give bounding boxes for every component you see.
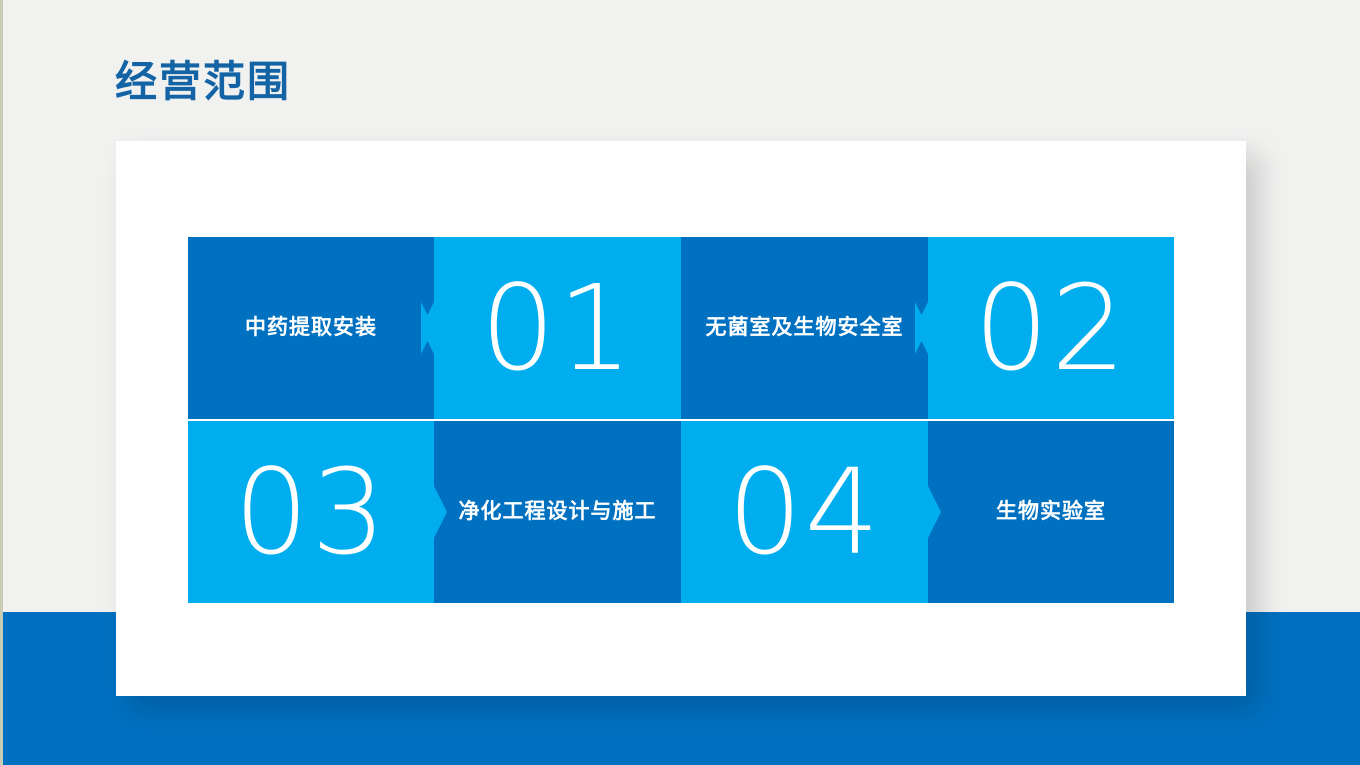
- matrix-row: 03 净化工程设计与施工 04 生物实验室: [188, 421, 1174, 603]
- scope-number-cell-03[interactable]: 03: [188, 421, 434, 603]
- scope-label-cell-03[interactable]: 净化工程设计与施工: [434, 421, 681, 603]
- arrow-left-icon: [421, 302, 434, 354]
- scope-number-text: 02: [974, 269, 1128, 387]
- scope-label-text: 生物实验室: [996, 496, 1106, 528]
- scope-number-cell-04[interactable]: 04: [681, 421, 928, 603]
- arrow-left-icon: [915, 302, 928, 354]
- matrix-row: 中药提取安装 01 无菌室及生物安全室 02: [188, 237, 1174, 419]
- scope-number-cell-01[interactable]: 01: [434, 237, 681, 419]
- scope-number-text: 01: [480, 269, 634, 387]
- scope-label-text: 无菌室及生物安全室: [706, 312, 904, 344]
- arrow-right-icon: [928, 486, 941, 538]
- content-card: 中药提取安装 01 无菌室及生物安全室 02 03 净化工程设计与施工: [116, 141, 1246, 696]
- scope-label-text: 净化工程设计与施工: [459, 496, 657, 528]
- scope-number-text: 04: [727, 453, 881, 571]
- page-title: 经营范围: [115, 56, 291, 108]
- scope-number-text: 03: [234, 453, 388, 571]
- scope-label-text: 中药提取安装: [245, 312, 377, 344]
- arrow-right-icon: [434, 486, 447, 538]
- scope-label-cell-01[interactable]: 中药提取安装: [188, 237, 434, 419]
- left-edge-accent-strip: [0, 0, 3, 765]
- scope-matrix: 中药提取安装 01 无菌室及生物安全室 02 03 净化工程设计与施工: [188, 237, 1174, 603]
- scope-label-cell-04[interactable]: 生物实验室: [928, 421, 1174, 603]
- scope-label-cell-02[interactable]: 无菌室及生物安全室: [681, 237, 928, 419]
- scope-number-cell-02[interactable]: 02: [928, 237, 1174, 419]
